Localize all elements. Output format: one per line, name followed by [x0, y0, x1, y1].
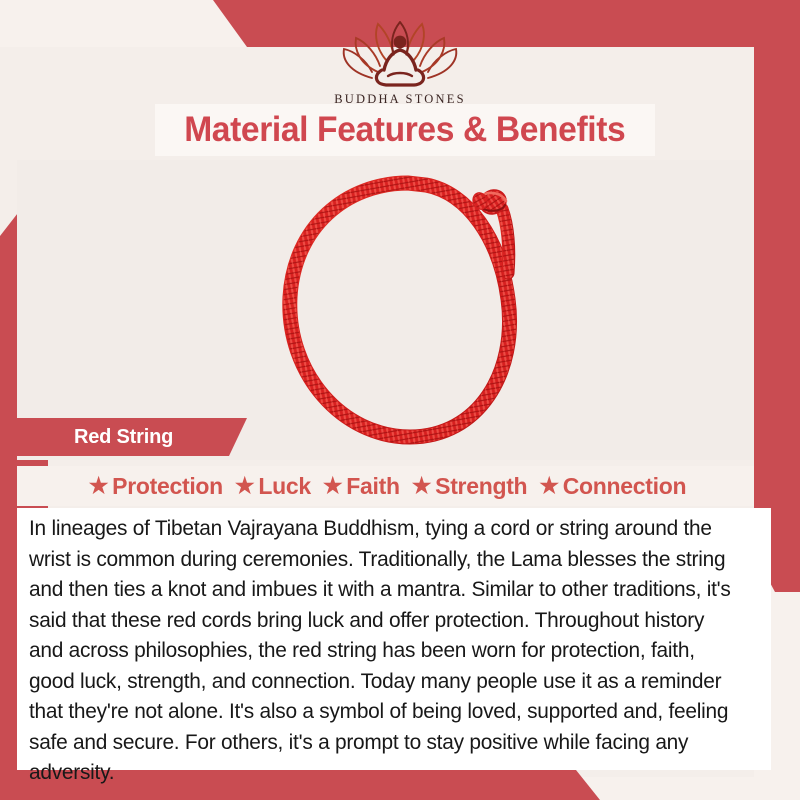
page-title: Material Features & Benefits: [184, 110, 625, 150]
product-image-red-string-bracelet: [250, 165, 560, 460]
feature-label: Luck: [258, 473, 310, 500]
feature-list: ★ Protection ★ Luck ★ Faith ★ Strength ★…: [17, 466, 754, 506]
star-icon: ★: [412, 475, 431, 497]
feature-label: Strength: [435, 473, 527, 500]
star-icon: ★: [89, 475, 108, 497]
star-icon: ★: [539, 475, 558, 497]
star-icon: ★: [235, 475, 254, 497]
feature-item-faith: ★ Faith: [319, 473, 400, 500]
description-text: In lineages of Tibetan Vajrayana Buddhis…: [29, 514, 738, 789]
header: BUDDHA STONES Material Features & Benefi…: [0, 0, 800, 160]
feature-item-strength: ★ Strength: [408, 473, 528, 500]
feature-item-luck: ★ Luck: [231, 473, 311, 500]
page-title-box: Material Features & Benefits: [155, 104, 655, 156]
brand-logo: BUDDHA STONES: [0, 16, 800, 107]
feature-label: Protection: [112, 473, 223, 500]
product-label-banner: Red String: [17, 418, 247, 456]
feature-item-protection: ★ Protection: [85, 473, 223, 500]
feature-item-connection: ★ Connection: [535, 473, 686, 500]
feature-label: Faith: [346, 473, 399, 500]
star-icon: ★: [323, 475, 342, 497]
product-label-text: Red String: [74, 426, 173, 449]
lotus-meditation-logo-icon: [330, 16, 470, 88]
description-panel: In lineages of Tibetan Vajrayana Buddhis…: [17, 508, 771, 770]
feature-label: Connection: [563, 473, 687, 500]
infographic-page: BUDDHA STONES Material Features & Benefi…: [0, 0, 800, 800]
